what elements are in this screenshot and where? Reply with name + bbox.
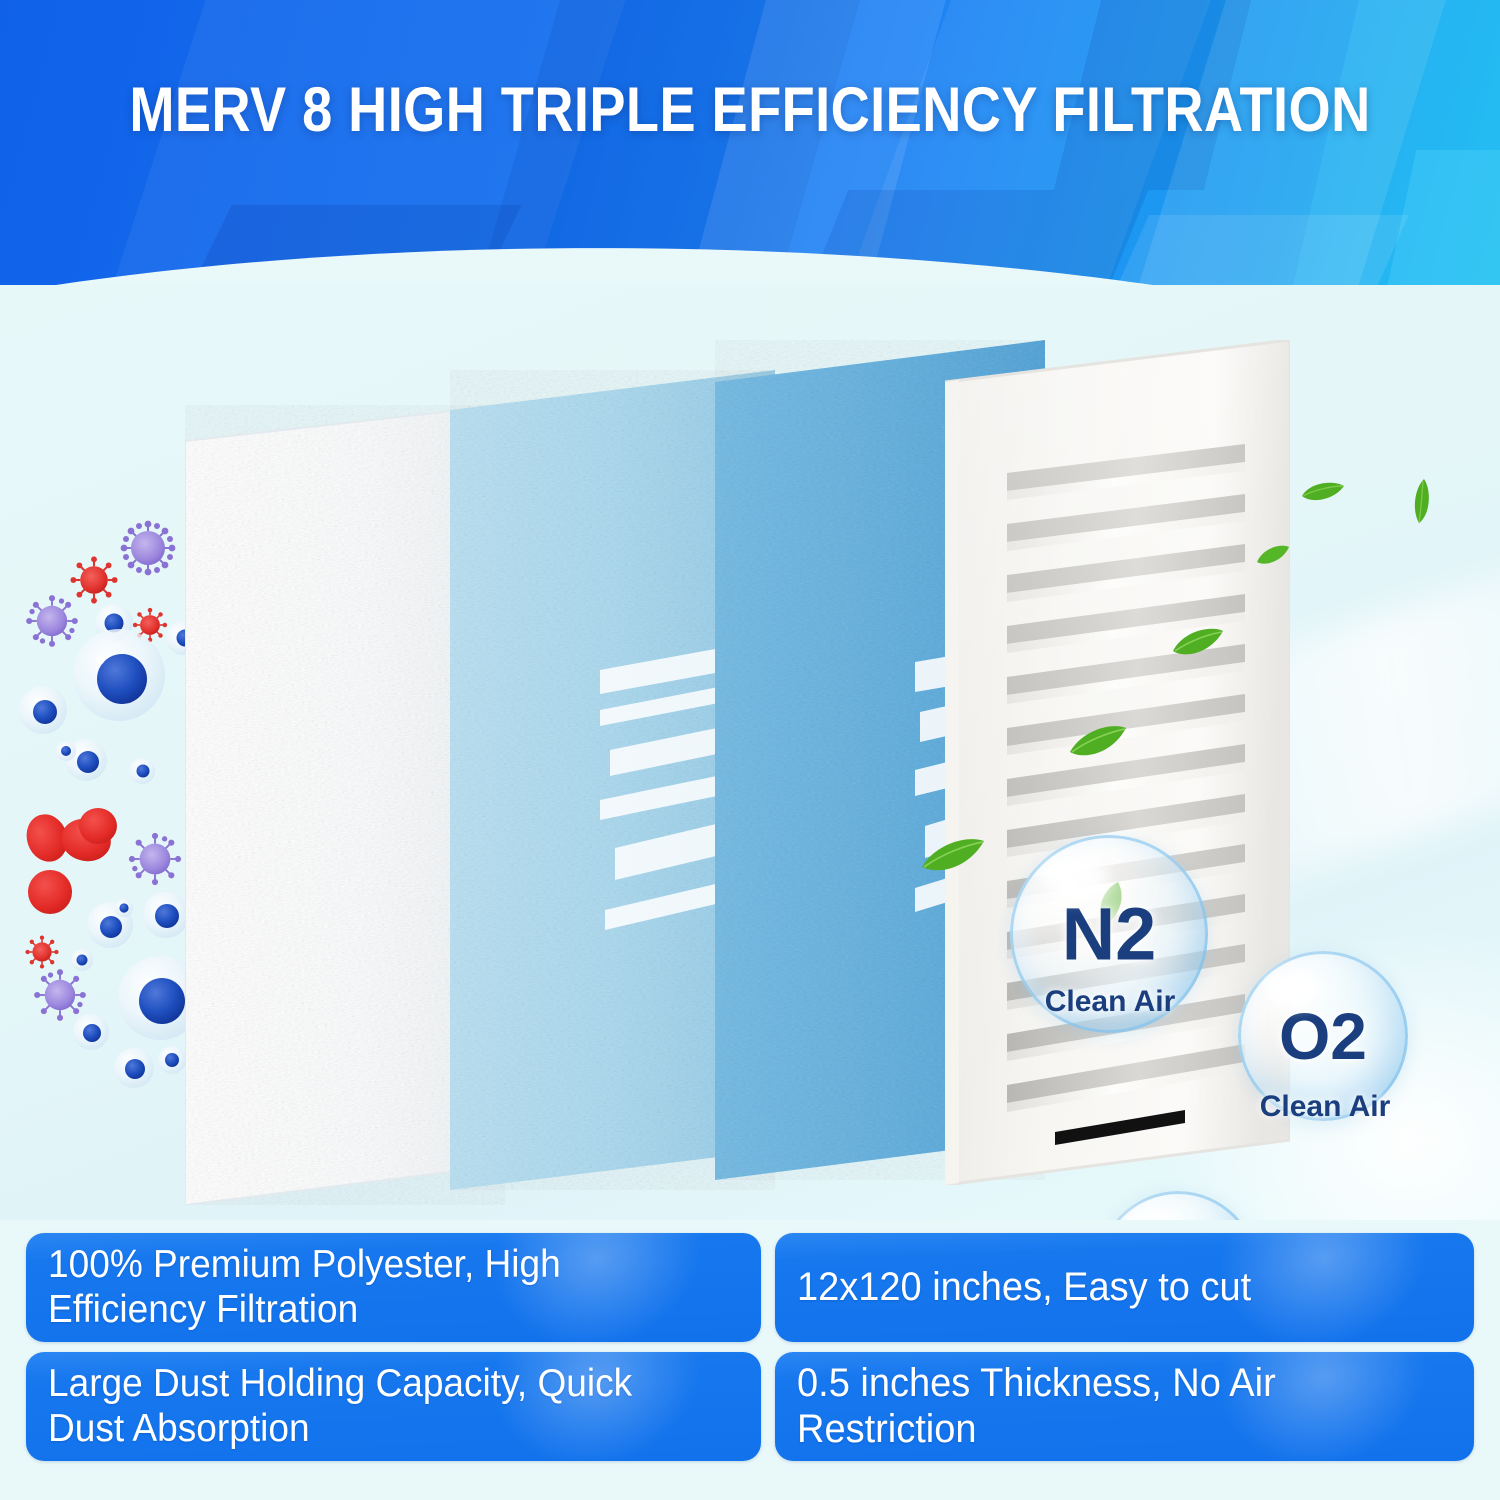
leaf-icon-1 xyxy=(1300,480,1346,506)
leaf-icon-6 xyxy=(920,835,986,877)
feature-box-4-text: 0.5 inches Thickness, No Air Restriction xyxy=(797,1361,1419,1452)
leaf-icon-2 xyxy=(1410,477,1434,525)
bubble-o2-caption: Clean Air xyxy=(1230,1090,1420,1124)
feature-box-3-text: Large Dust Holding Capacity, Quick Dust … xyxy=(48,1362,704,1451)
leaf-icon-5 xyxy=(1068,722,1128,762)
leaf-icon-4 xyxy=(1171,625,1225,661)
bubble-o2-label: O2 xyxy=(1238,998,1408,1074)
contaminant-particles xyxy=(0,520,215,1090)
page-title: MERV 8 HIGH TRIPLE EFFICIENCY FILTRATION xyxy=(105,74,1395,146)
bubble-n2-label: N2 xyxy=(1010,892,1208,977)
feature-box-1: 100% Premium Polyester, High Efficiency … xyxy=(26,1233,761,1342)
feature-box-2: 12x120 inches, Easy to cut xyxy=(775,1233,1474,1342)
bubble-n2-caption: Clean Air xyxy=(1000,985,1220,1019)
product-illustration: N2 Clean Air O2 Clean Air Ar Clean Air xyxy=(0,285,1500,1220)
feature-box-1-text: 100% Premium Polyester, High Efficiency … xyxy=(48,1243,704,1332)
leaf-icon-3 xyxy=(1255,542,1291,568)
product-infographic: MERV 8 HIGH TRIPLE EFFICIENCY FILTRATION xyxy=(0,0,1500,1500)
feature-box-2-text: 12x120 inches, Easy to cut xyxy=(797,1265,1251,1311)
feature-box-4: 0.5 inches Thickness, No Air Restriction xyxy=(775,1352,1474,1461)
feature-box-3: Large Dust Holding Capacity, Quick Dust … xyxy=(26,1352,761,1461)
feature-list: 100% Premium Polyester, High Efficiency … xyxy=(26,1233,1474,1461)
